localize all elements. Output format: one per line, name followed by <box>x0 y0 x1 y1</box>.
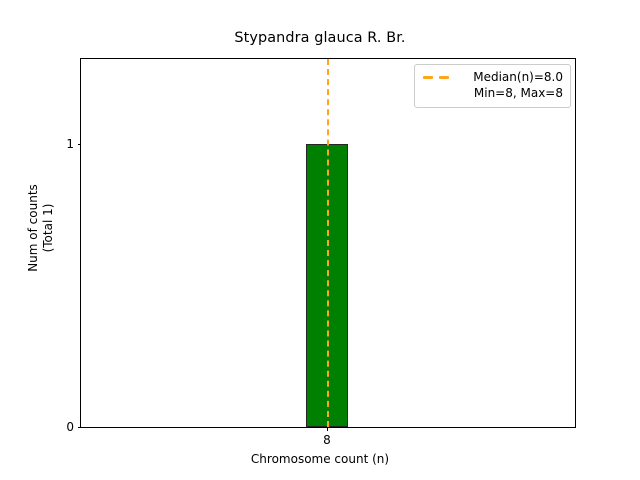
y-tick-label: 1 <box>66 137 74 151</box>
legend-dash-1 <box>423 76 433 79</box>
y-tick-mark <box>78 144 82 145</box>
chart-figure: Stypandra glauca R. Br. 0 1 8 <box>0 0 640 480</box>
x-tick-label: 8 <box>323 433 331 447</box>
y-tick-label: 0 <box>66 420 74 434</box>
legend-label-median: Median(n)=8.0 <box>459 70 563 86</box>
legend-entry: Median(n)=8.0 Min=8, Max=8 <box>422 70 563 101</box>
y-axis-label: Num of counts (Total 1) <box>26 43 66 413</box>
legend-dash-2 <box>439 76 449 79</box>
median-line <box>327 59 329 427</box>
legend-line-sample <box>422 70 452 85</box>
legend-label-minmax: Min=8, Max=8 <box>459 86 563 102</box>
plot-area: 0 1 8 Median(n)=8.0 Min=8, Max=8 <box>80 58 576 428</box>
legend-text: Median(n)=8.0 Min=8, Max=8 <box>459 70 563 101</box>
chart-title: Stypandra glauca R. Br. <box>0 30 640 46</box>
x-tick-mark <box>327 427 328 431</box>
x-axis-label: Chromosome count (n) <box>0 452 640 466</box>
legend: Median(n)=8.0 Min=8, Max=8 <box>414 64 571 108</box>
y-tick-mark <box>78 427 82 428</box>
y-axis-label-line2: (Total 1) <box>41 43 56 413</box>
y-axis-label-line1: Num of counts <box>26 43 41 413</box>
